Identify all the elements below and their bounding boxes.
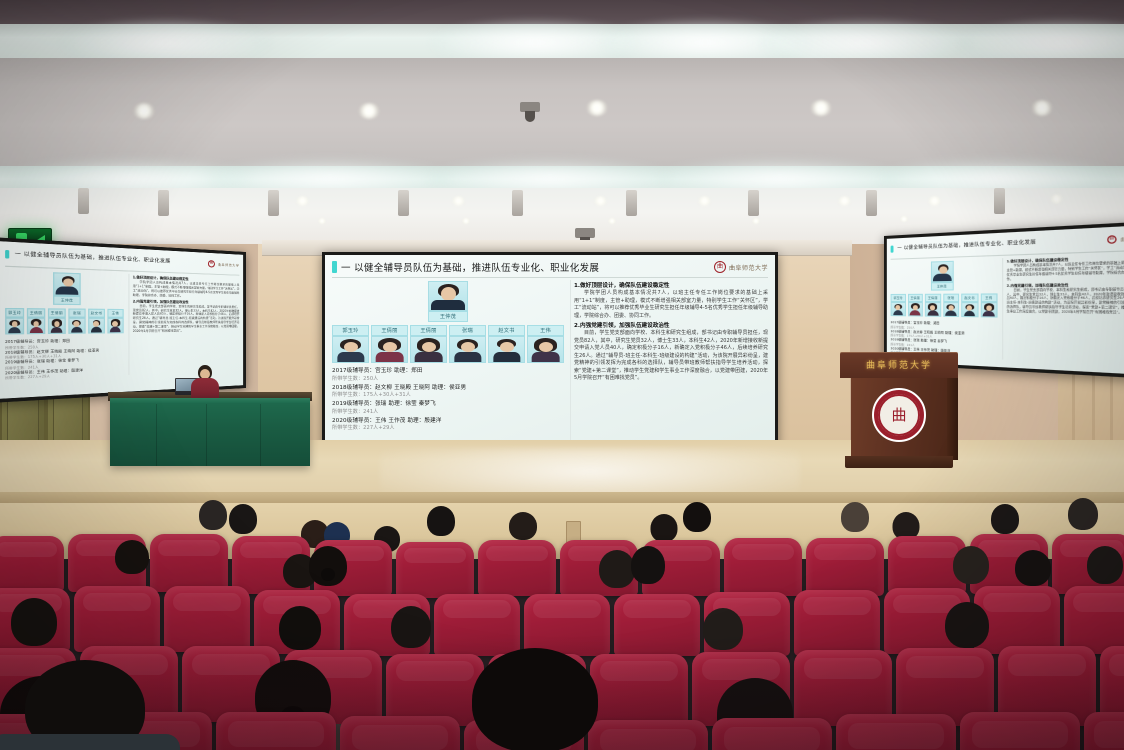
seat (614, 594, 700, 656)
university-emblem: 曲 (872, 388, 926, 442)
university-name: 曲阜师范大学 (218, 261, 240, 267)
ceiling-downlight (928, 196, 941, 206)
seat (836, 714, 956, 750)
staff-name-chip: 张瑞 (449, 325, 486, 336)
section-body: 目前，学生党支部面向学校、本科生和研究生组成，部书记由专职辅导员担任，现党员82… (574, 330, 768, 383)
audience-person (838, 502, 872, 536)
section-heading: 1.做好顶层设计，确保队伍建设稳定性 (574, 281, 768, 289)
leader-name-chip: 王仲茂 (428, 311, 468, 322)
ceiling-cove-light-upper (0, 24, 1124, 62)
staff-name-chip: 王倩丽 (410, 325, 447, 336)
section-body: 目前，学生党支部面向学校、本科生和研究生组成，部书记由专职辅导员担任，现党员82… (133, 304, 240, 334)
ceiling-beam (268, 190, 279, 216)
ceiling-beam (398, 190, 409, 216)
slide-title: 一 以健全辅导员队伍为基础，推进队伍专业化、职业化发展 (897, 239, 1036, 252)
university-name: 曲阜师范大学 (1121, 234, 1124, 241)
seat (724, 538, 802, 596)
university-seal-icon: 曲 (1107, 235, 1116, 244)
audience-person (226, 504, 260, 538)
seat (150, 534, 228, 592)
seat (524, 594, 610, 656)
roster-subline: 所带学生数：250人 (332, 376, 564, 384)
seat (1064, 586, 1124, 654)
ceiling-downlight (608, 218, 616, 224)
seat (434, 594, 520, 656)
slide-logo: 曲 曲阜师范大学 (714, 261, 768, 273)
seat (1084, 712, 1124, 750)
ceiling-beam (512, 190, 523, 216)
ceiling-downlight (318, 218, 326, 224)
leader-portrait: 王仲茂 (930, 261, 953, 291)
ceiling-downlight (752, 218, 760, 224)
section-body: 目前，学生党支部面向学校、本科生和研究生组成，部书记由专职辅导员担任，现党员82… (1007, 287, 1124, 316)
ceiling-downlight (452, 196, 465, 206)
emblem-glyph: 曲 (878, 394, 920, 436)
section-body: 学院学团人员构成基本情况共7人，以班主任专任工作岗位要求的基础上采用“1+1”制… (574, 290, 768, 320)
roster-list: 2017级辅导员：宫玉珍 助理：郑田 所带学生数：250人 2018级辅导员：赵… (5, 338, 123, 381)
seat (806, 538, 884, 596)
slide-logo: 曲 曲阜师范大学 (208, 260, 240, 269)
roster-line: 2020级辅导员：王伟 王作茂 助理：殷建洋 (332, 417, 564, 426)
seat (74, 586, 160, 652)
audience-person (680, 502, 714, 536)
staff-name-chip: 王倩丽 (925, 294, 941, 302)
ceiling-downlight (462, 218, 470, 224)
leader-name-chip: 王仲茂 (53, 296, 81, 306)
audience-person (988, 504, 1022, 538)
ceiling-beam (748, 190, 759, 216)
leader-portrait: 王仲茂 (53, 272, 81, 305)
main-projection-screen: 一 以健全辅导员队伍为基础，推进队伍专业化、职业化发展 曲 曲阜师范大学 (322, 252, 778, 458)
seat (164, 586, 250, 652)
section-body: 学院学团人员构成基本情况共7人，以班主任专任工作岗位要求的基础上采用“1+1”制… (133, 280, 240, 299)
ceiling-beam (866, 190, 877, 216)
leader-portrait: 王仲茂 (428, 281, 468, 322)
ceiling-downlight (838, 196, 851, 206)
staff-name-chip: 王伟 (980, 293, 997, 302)
ceiling-downlight (900, 216, 908, 222)
ceiling-camera (575, 228, 595, 238)
audience-person (388, 606, 434, 658)
university-seal-icon: 曲 (208, 260, 215, 268)
staff-name-chip: 赵文书 (961, 294, 978, 303)
audience-person-foreground (460, 648, 610, 750)
ceiling-downlight (358, 103, 380, 119)
seat (0, 536, 64, 592)
ceiling-downlight (1031, 100, 1053, 116)
audience-person (112, 540, 152, 580)
ceiling-downlight (133, 103, 155, 119)
staff-portrait-row: 郭玉玲 王倩丽 王倩丽 张瑞 赵文书 王伟 (5, 308, 123, 335)
slide-logo: 曲 曲阜师范大学 (1107, 233, 1124, 243)
roster-subline: 所带学生数：241人 (332, 409, 564, 417)
staff-name-chip: 王伟 (527, 325, 564, 336)
lectern-podium: 曲阜师范大学 曲 (840, 352, 958, 472)
ceiling-beam (158, 190, 169, 216)
seat (340, 716, 460, 750)
staff-name-chip: 王倩丽 (907, 294, 922, 302)
audience-person (196, 500, 230, 534)
staff-portrait-row: 郭玉玲 王倩丽 王倩丽 (332, 325, 564, 363)
staff-name-chip: 王倩丽 (27, 308, 45, 318)
seat (396, 542, 474, 598)
staff-name-chip: 赵文书 (488, 325, 525, 336)
section-body: 学院学团人员构成基本情况共7人，以班主任专任工作岗位要求的基础上采用“1+1”制… (1007, 261, 1124, 282)
audience-person (306, 546, 350, 592)
ceiling-downlight (296, 196, 309, 206)
staff-name-chip: 郭玉玲 (5, 308, 24, 318)
slide-accent-tick (891, 245, 894, 252)
audience-person (1066, 498, 1100, 534)
auditorium-photo: 一 以健全辅导员队伍为基础，推进队伍专业化、职业化发展 曲 曲阜师范大学 (0, 0, 1124, 750)
staff-name-chip: 王伟 (107, 309, 123, 318)
roster-list: 2017级辅导员：宫玉珍 助理：郑田 所带学生数：250人 2018级辅导员：赵… (332, 367, 564, 433)
staff-name-chip: 王倩丽 (48, 308, 66, 317)
presenter-person (190, 365, 220, 401)
podium-university-text: 曲阜师范大学 (840, 358, 958, 371)
staff-name-chip: 赵文书 (88, 309, 105, 318)
slide-title: 一 以健全辅导员队伍为基础，推进队伍专业化、职业化发展 (15, 250, 171, 264)
university-seal-icon: 曲 (714, 261, 726, 273)
ceiling-downlight (594, 196, 607, 206)
ceiling-downlight (810, 100, 832, 116)
audience-person-foreground (10, 660, 160, 750)
staff-name-chip: 张瑞 (68, 308, 85, 317)
leader-name-chip: 王仲茂 (930, 282, 953, 291)
ceiling-projector (520, 102, 540, 112)
slide-accent-tick (5, 249, 9, 258)
staff-name-chip: 郭玉玲 (332, 325, 369, 336)
section-heading: 2.内强党建引领，加强队伍建设政治性 (574, 321, 768, 329)
staff-name-chip: 王倩丽 (371, 325, 408, 336)
university-name: 曲阜师范大学 (729, 263, 768, 272)
ceiling-downlight (586, 100, 608, 116)
ceiling-downlight (698, 196, 711, 206)
staff-portrait-row: 郭玉玲 王倩丽 王倩丽 张瑞 赵文书 王伟 (891, 293, 998, 317)
seat (712, 718, 832, 750)
slide-title: 一 以健全辅导员队伍为基础，推进队伍专业化、职业化发展 (341, 260, 599, 274)
roster-subline: 所带学生数：227人+29人 (332, 425, 564, 433)
audience-person (424, 506, 458, 540)
audience-person (8, 598, 60, 654)
ceiling-beam (994, 188, 1005, 214)
ceiling-downlight (1050, 194, 1063, 204)
slide-accent-tick (332, 261, 337, 273)
seat (960, 712, 1080, 750)
audience-person (628, 546, 668, 592)
seat (478, 540, 556, 596)
ceiling-main-panel (0, 58, 1124, 170)
roster-line: 2018级辅导员：赵文柳 王晓殿 王晓阿 助理：侯亚男 (332, 384, 564, 393)
staff-name-chip: 郭玉玲 (891, 294, 906, 302)
ceiling-beam (78, 188, 89, 214)
roster-subline: 所带学生数：175人+30人+31人 (332, 392, 564, 400)
roster-line: 2017级辅导员：宫玉珍 助理：郑田 (332, 367, 564, 376)
presenter-table-green-cloth (110, 398, 310, 466)
seat (216, 712, 336, 750)
ceiling-beam (626, 190, 637, 216)
staff-name-chip: 张瑞 (943, 294, 959, 303)
roster-line: 2019级辅导员：张瑞 助理：徐莹 秦梦飞 (332, 400, 564, 409)
seat (794, 590, 880, 656)
